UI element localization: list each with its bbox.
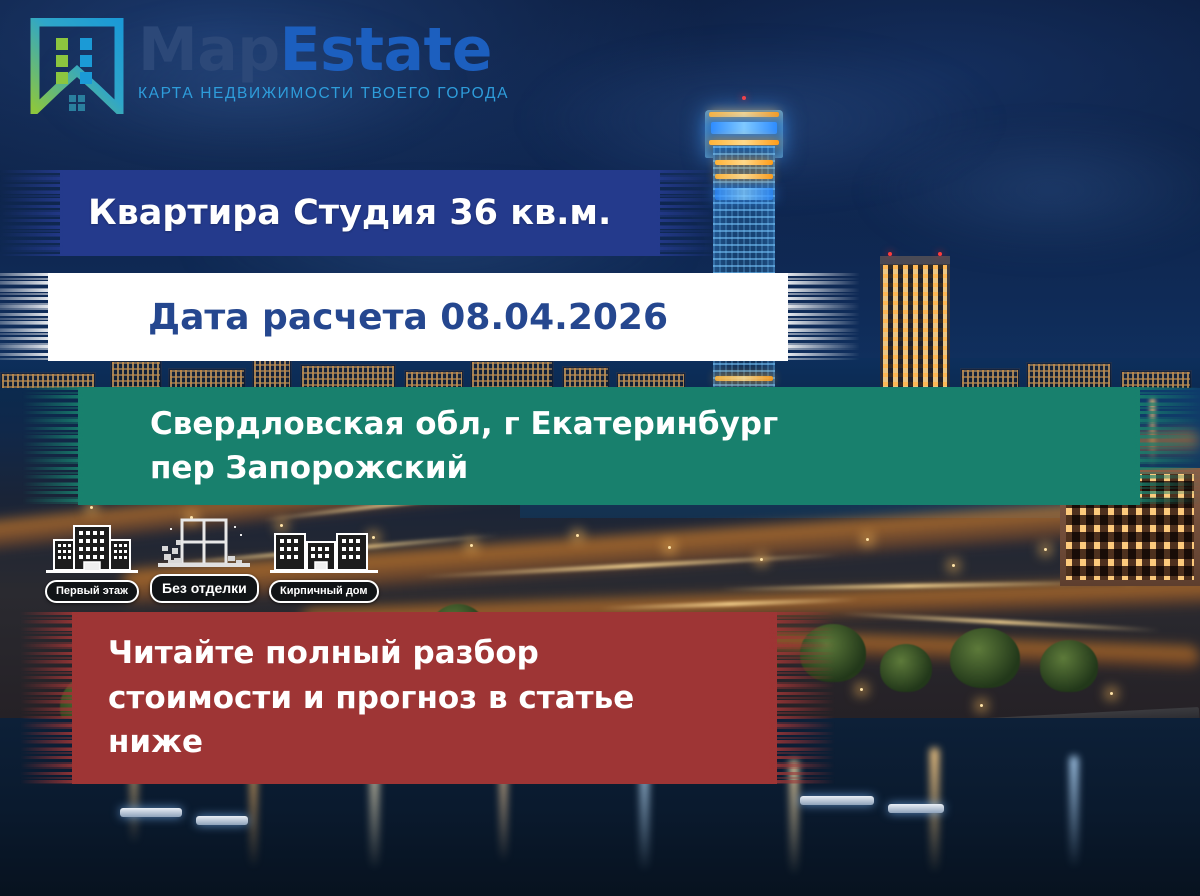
brick-house-icon xyxy=(269,522,379,578)
badge-bare-finish[interactable]: Без отделки xyxy=(150,516,259,603)
brand-name: MapEstate xyxy=(138,22,509,79)
calculation-date-banner: Дата расчета 08.04.2026 xyxy=(48,273,788,361)
brush-edge-left xyxy=(0,273,56,361)
boat xyxy=(800,796,874,805)
cta-line-3: ниже xyxy=(108,720,203,765)
brand-wordmark: MapEstate КАРТА НЕДВИЖИМОСТИ ТВОЕГО ГОРО… xyxy=(138,18,509,103)
brush-edge-left xyxy=(0,170,64,256)
feature-badges: Первый этаж xyxy=(44,516,379,603)
bookmark-building-icon xyxy=(30,18,124,114)
brand-tagline: КАРТА НЕДВИЖИМОСТИ ТВОЕГО ГОРОДА xyxy=(138,85,509,103)
badge-first-floor[interactable]: Первый этаж xyxy=(44,522,140,603)
boat xyxy=(196,816,248,825)
address-banner: Свердловская обл, г Екатеринбург пер Зап… xyxy=(78,387,1140,505)
brush-edge-right xyxy=(656,170,720,256)
badge-label: Кирпичный дом xyxy=(269,580,379,603)
bare-shell-room-icon xyxy=(156,516,252,572)
poster-canvas: MapEstate КАРТА НЕДВИЖИМОСТИ ТВОЕГО ГОРО… xyxy=(0,0,1200,896)
badge-brick-house[interactable]: Кирпичный дом xyxy=(269,522,379,603)
badge-label: Без отделки xyxy=(150,574,259,603)
brand-name-part2: Estate xyxy=(280,15,492,85)
brush-edge-right xyxy=(1132,387,1200,505)
address-line-2: пер Запорожский xyxy=(150,446,468,490)
boat xyxy=(120,808,182,817)
brand-logo[interactable]: MapEstate КАРТА НЕДВИЖИМОСТИ ТВОЕГО ГОРО… xyxy=(30,18,509,114)
brand-name-part1: Map xyxy=(138,15,280,85)
calculation-date-text: Дата расчета 08.04.2026 xyxy=(148,297,668,338)
brush-edge-left xyxy=(20,612,78,784)
address-line-1: Свердловская обл, г Екатеринбург xyxy=(150,402,778,446)
boat xyxy=(888,804,944,813)
badge-label: Первый этаж xyxy=(45,580,139,603)
brush-edge-right xyxy=(769,612,835,784)
cta-line-2: стоимости и прогноз в статье xyxy=(108,676,634,721)
property-title-text: Квартира Студия 36 кв.м. xyxy=(88,193,611,233)
brush-edge-left xyxy=(22,387,84,505)
cta-banner[interactable]: Читайте полный разбор стоимости и прогно… xyxy=(72,612,777,784)
cta-line-1: Читайте полный разбор xyxy=(108,631,539,676)
property-title-banner: Квартира Студия 36 кв.м. xyxy=(60,170,660,256)
apartment-building-icon xyxy=(44,522,140,578)
secondary-tower xyxy=(880,262,950,394)
brush-edge-right xyxy=(780,273,860,361)
